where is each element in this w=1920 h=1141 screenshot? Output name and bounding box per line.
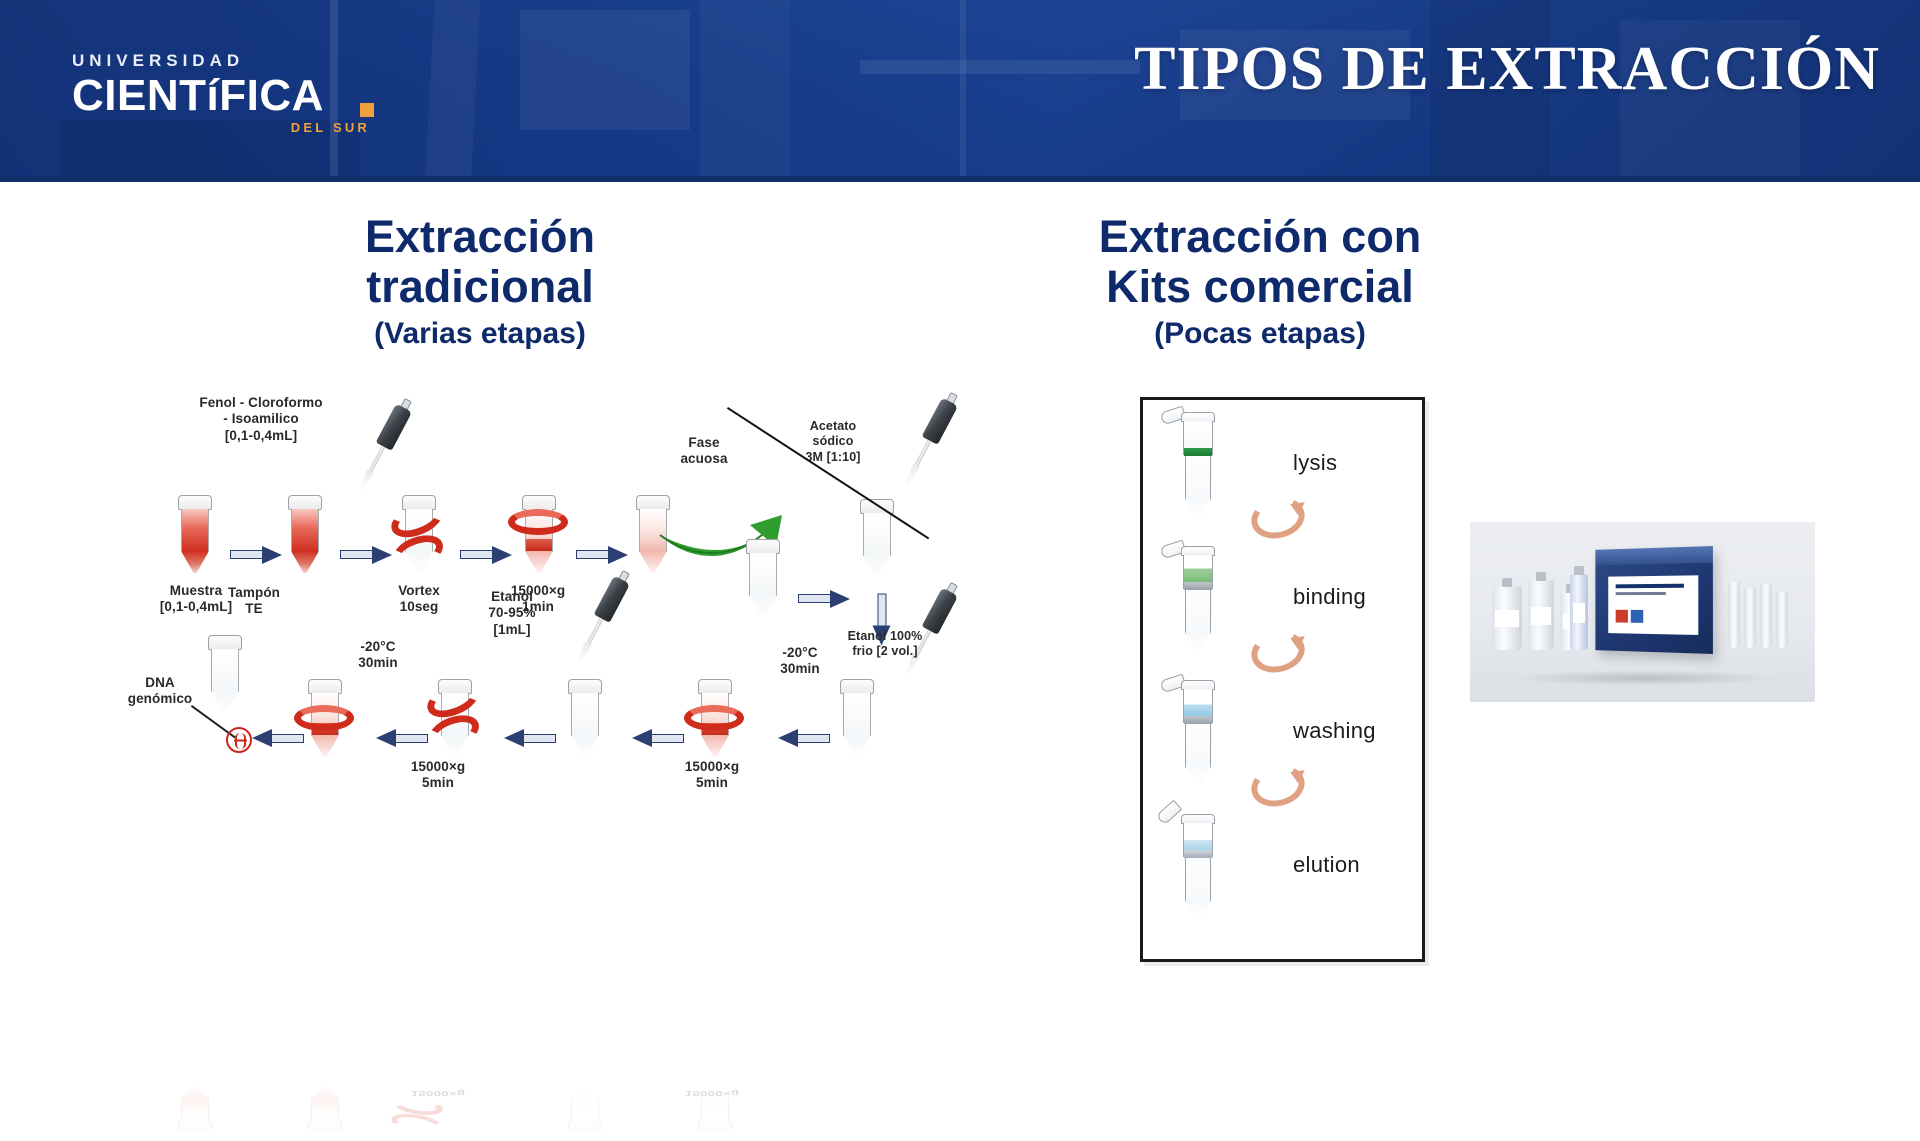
- spin-column-icon-binding: [1175, 546, 1221, 656]
- arrow-icon-4: [576, 547, 628, 562]
- kit-step-label-binding: binding: [1293, 584, 1366, 610]
- commercial-kit-photo: [1470, 522, 1815, 702]
- kit-tube-2: [1744, 588, 1756, 648]
- label-freeze-2: -20°C 30min: [762, 645, 838, 678]
- kit-step-elution: elution: [1143, 808, 1428, 936]
- spin-column-icon-washing: [1175, 680, 1221, 790]
- tube-sample-plus-phenol: [288, 495, 322, 573]
- tube-receiving-1: [746, 539, 780, 617]
- logo-line-cientifica: CIENTíFICA: [72, 73, 372, 119]
- label-phenol-chloroform: Fenol - Cloroformo - Isoamilico [0,1-0,4…: [166, 395, 356, 444]
- photo-shadow: [1510, 670, 1780, 686]
- kit-bottle-2: [1528, 580, 1554, 650]
- arrow-loop-icon-2: [1251, 632, 1305, 672]
- kit-tube-1: [1728, 582, 1740, 648]
- arrow-loop-icon-1: [1251, 498, 1305, 538]
- right-column-heading-block: Extracción con Kits comercial (Pocas eta…: [1030, 212, 1490, 351]
- vortex-swirl-icon-2: [424, 683, 486, 755]
- spin-column-icon-lysis: [1175, 412, 1221, 522]
- kit-tube-4: [1776, 592, 1788, 648]
- arrow-icon-left-4: [376, 731, 428, 746]
- label-spin-5min-left: 15000×g 5min: [382, 759, 494, 792]
- kit-workflow-panel: lysis binding washing: [1140, 397, 1425, 962]
- arrow-icon-3: [460, 547, 512, 562]
- arrow-icon-left-5: [252, 731, 304, 746]
- pipette-icon-phenol: [353, 404, 412, 494]
- arrow-icon-1: [230, 547, 282, 562]
- logo-wordmark: CIENTíFICA: [72, 71, 324, 120]
- label-vortex: Vortex 10seg: [368, 583, 470, 616]
- label-dna-genomico: DNA genómico: [112, 675, 208, 708]
- kit-step-label-lysis: lysis: [1293, 450, 1337, 476]
- kit-bottle-1: [1492, 586, 1522, 650]
- right-column-subtitle: (Pocas etapas): [1030, 317, 1490, 351]
- label-fase-acuosa: Fase acuosa: [658, 435, 750, 468]
- left-column-heading-block: Extracción tradicional (Varias etapas): [250, 212, 710, 351]
- arrow-icon-left-2: [632, 731, 684, 746]
- centrifuge-ring-icon-1: [508, 509, 568, 535]
- tube-te-buffer: [208, 635, 242, 713]
- vortex-swirl-icon: [388, 503, 450, 575]
- kit-tube-3: [1760, 584, 1772, 648]
- arrow-icon-left-1: [778, 731, 830, 746]
- dna-pellet-marker-icon: [226, 727, 252, 753]
- kit-step-label-elution: elution: [1293, 852, 1360, 878]
- arrow-icon-5: [798, 591, 850, 606]
- university-logo: UNIVERSIDAD CIENTíFICA DEL SUR: [72, 52, 372, 136]
- label-acetato-sodico: Acetato sódico 3M [1:10]: [780, 419, 886, 465]
- logo-line-del-sur: DEL SUR: [72, 120, 372, 135]
- arrow-icon-2: [340, 547, 392, 562]
- label-spin-5min-right: 15000×g 5min: [656, 759, 768, 792]
- spin-column-icon-elution: [1175, 814, 1221, 924]
- left-column-title: Extracción tradicional: [250, 212, 710, 313]
- centrifuge-ring-icon-3: [684, 705, 744, 731]
- slide-header: UNIVERSIDAD CIENTíFICA DEL SUR TIPOS DE …: [0, 0, 1920, 182]
- label-tampon-te: Tampón TE: [208, 585, 300, 618]
- kit-box: [1595, 546, 1713, 654]
- logo-line-universidad: UNIVERSIDAD: [72, 52, 372, 69]
- page-title: TIPOS DE EXTRACCIÓN: [1134, 34, 1880, 105]
- right-column-title: Extracción con Kits comercial: [1030, 212, 1490, 313]
- slide-body: Extracción tradicional (Varias etapas) E…: [0, 182, 1920, 1080]
- left-column-subtitle: (Varias etapas): [250, 317, 710, 351]
- traditional-extraction-diagram: Fenol - Cloroformo - Isoamilico [0,1-0,4…: [130, 387, 990, 1047]
- kit-box-label: [1608, 575, 1698, 635]
- tube-ethanol-cold: [840, 679, 874, 757]
- kit-bottle-4: [1570, 574, 1588, 650]
- label-freeze-1: -20°C 30min: [340, 639, 416, 672]
- tube-pellet-1: [568, 679, 602, 757]
- arrow-loop-icon-3: [1251, 766, 1305, 806]
- label-etanol-100: Etanol 100% frio [2 vol.]: [820, 629, 950, 660]
- tube-sample: [178, 495, 212, 573]
- kit-step-label-washing: washing: [1293, 718, 1376, 744]
- pipette-icon-acetate: [899, 398, 958, 488]
- logo-accent-square: [360, 103, 374, 117]
- label-etanol-70: Etanol 70-95% [1mL]: [464, 589, 560, 638]
- centrifuge-ring-icon-2: [294, 705, 354, 731]
- arrow-icon-left-3: [504, 731, 556, 746]
